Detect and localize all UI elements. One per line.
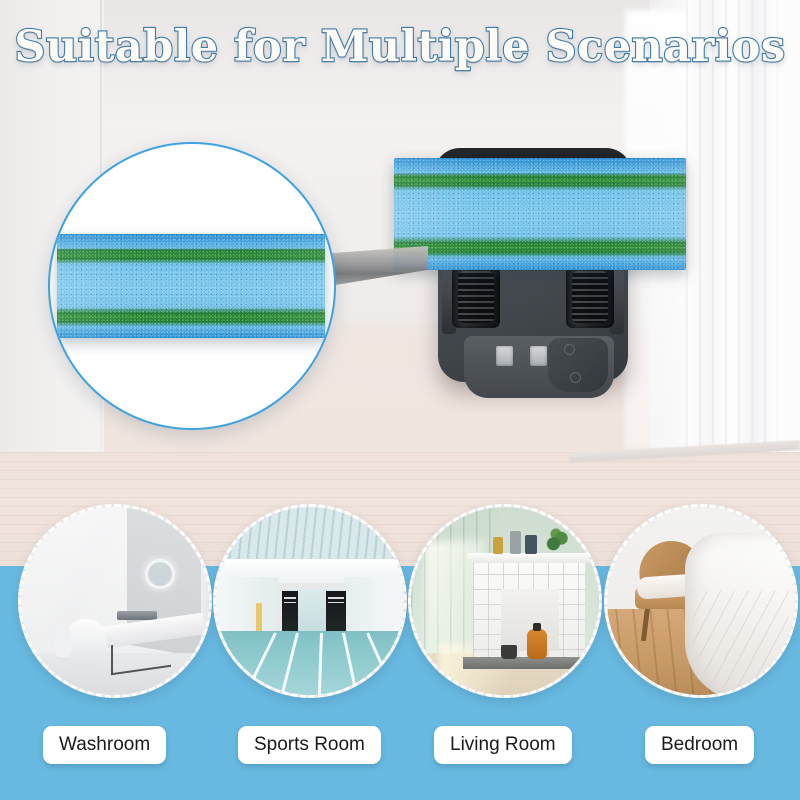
mount-slot-2 [530,346,547,366]
mantel-object-gold [493,537,503,554]
mop-mount-plate [464,336,614,398]
washroom-photo [21,507,209,695]
wheel-right [566,266,614,328]
magnifier-lens [48,142,336,430]
sports-room-photo [216,507,404,695]
label-washroom[interactable]: Washroom [43,726,166,764]
scene-circle-sports-room[interactable] [213,504,407,698]
scene-circle-living-room[interactable] [408,504,602,698]
label-living-room[interactable]: Living Room [434,726,572,764]
lane-line-1 [247,632,277,689]
label-sports-room[interactable]: Sports Room [238,726,381,764]
bed-with-white-linen [685,533,795,695]
mop-pad-on-robot [394,158,686,270]
lane-line-5 [366,632,394,690]
lane-line-2 [281,633,299,694]
label-bedroom[interactable]: Bedroom [645,726,754,764]
lane-line-3 [318,633,323,695]
mount-slot-1 [496,346,513,366]
sports-floor [216,631,404,695]
bedroom-photo [607,507,795,695]
water-tank-cover [548,338,608,392]
scenario-circles [0,504,800,714]
wheel-left [452,266,500,328]
wall-faucet [117,611,157,620]
living-room-photo [411,507,599,695]
page-title: Suitable for Multiple Scenarios [0,22,800,72]
mop-pad-closeup [57,234,325,338]
product-marketing-banner: Suitable for Multiple Scenarios [0,0,800,800]
round-mirror [145,559,175,589]
black-pot [501,645,517,659]
hearth-slab [463,657,593,669]
mantel-object-dark [525,535,537,554]
lane-line-4 [342,633,358,694]
scene-circle-washroom[interactable] [18,504,212,698]
potted-plant [543,527,569,555]
scene-circle-bedroom[interactable] [604,504,798,698]
hero-room-photo [0,0,800,570]
amber-jar [527,629,547,659]
mantel-shelf [467,553,591,563]
scenario-labels: Washroom Sports Room Living Room Bedroom [0,726,800,772]
toilet [65,619,107,667]
mantel-object-silver [510,531,521,554]
